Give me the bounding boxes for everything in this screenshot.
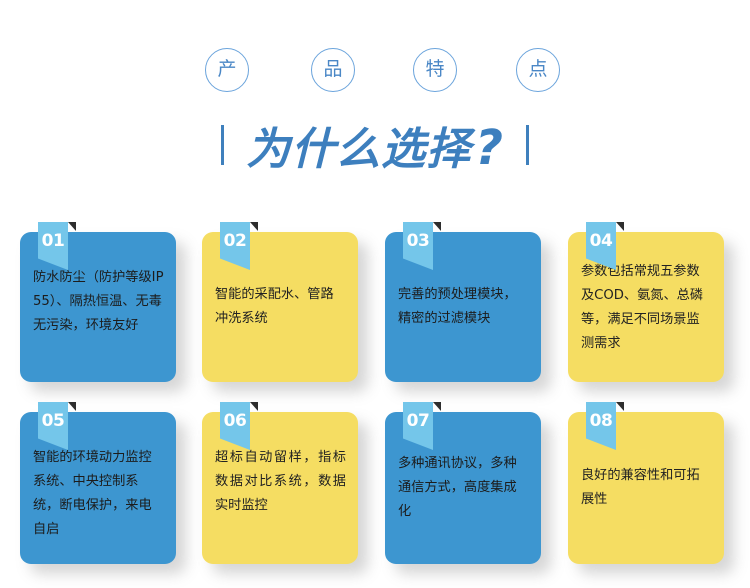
ribbon-fold-icon xyxy=(433,402,441,411)
card-number: 01 xyxy=(38,231,68,251)
feature-card[interactable]: 07 多种通讯协议，多种通信方式，高度集成化 xyxy=(385,412,541,564)
page-title: 为什么选择? xyxy=(246,113,504,177)
card-text: 防水防尘（防护等级IP55）、隔热恒温、无毒无污染，环境友好 xyxy=(33,266,164,338)
ribbon-icon: 05 xyxy=(38,402,68,450)
feature-card[interactable]: 04 参数包括常规五参数及COD、氨氮、总磷等，满足不同场景监测需求 xyxy=(568,232,724,382)
card-number: 03 xyxy=(403,231,433,251)
feature-card[interactable]: 06 超标自动留样，指标数据对比系统，数据实时监控 xyxy=(202,412,358,564)
card-text: 多种通讯协议，多种通信方式，高度集成化 xyxy=(398,452,529,524)
circled-char-dian: 点 xyxy=(516,48,560,92)
card-text: 智能的环境动力监控系统、中央控制系统，断电保护，来电自启 xyxy=(33,446,164,542)
card-number: 02 xyxy=(220,231,250,251)
divider-left-icon xyxy=(221,125,224,165)
question-mark: ? xyxy=(471,120,504,176)
card-number: 06 xyxy=(220,411,250,431)
feature-card[interactable]: 08 良好的兼容性和可拓展性 xyxy=(568,412,724,564)
page-title-text: 为什么选择 xyxy=(246,124,471,175)
feature-cards-row-1: 01 防水防尘（防护等级IP55）、隔热恒温、无毒无污染，环境友好 02 智能的… xyxy=(20,232,730,412)
feature-card[interactable]: 01 防水防尘（防护等级IP55）、隔热恒温、无毒无污染，环境友好 xyxy=(20,232,176,382)
ribbon-fold-icon xyxy=(68,402,76,411)
section-heading: 为什么选择? xyxy=(0,112,750,178)
ribbon-fold-icon xyxy=(616,402,624,411)
ribbon-fold-icon xyxy=(68,222,76,231)
card-text: 超标自动留样，指标数据对比系统，数据实时监控 xyxy=(215,446,346,518)
feature-cards-row-2: 05 智能的环境动力监控系统、中央控制系统，断电保护，来电自启 06 超标自动留… xyxy=(20,412,730,588)
ribbon-icon: 01 xyxy=(38,222,68,270)
divider-right-icon xyxy=(526,125,529,165)
feature-card[interactable]: 03 完善的预处理模块，精密的过滤模块 xyxy=(385,232,541,382)
circled-char-chan: 产 xyxy=(205,48,249,92)
circled-char-te: 特 xyxy=(413,48,457,92)
ribbon-fold-icon xyxy=(250,402,258,411)
card-number: 08 xyxy=(586,411,616,431)
ribbon-icon: 06 xyxy=(220,402,250,450)
ribbon-fold-icon xyxy=(616,222,624,231)
feature-card[interactable]: 02 智能的采配水、管路冲洗系统 xyxy=(202,232,358,382)
circled-char-pin: 品 xyxy=(311,48,355,92)
ribbon-icon: 07 xyxy=(403,402,433,450)
card-number: 07 xyxy=(403,411,433,431)
circled-label-row: 产 品 特 点 xyxy=(0,48,750,96)
feature-card[interactable]: 05 智能的环境动力监控系统、中央控制系统，断电保护，来电自启 xyxy=(20,412,176,564)
card-number: 04 xyxy=(586,231,616,251)
feature-cards-grid: 01 防水防尘（防护等级IP55）、隔热恒温、无毒无污染，环境友好 02 智能的… xyxy=(20,232,730,588)
product-features-section: 产 品 特 点 为什么选择? 01 防水防尘（防护等级IP55）、隔热恒温、无毒… xyxy=(0,0,750,588)
ribbon-fold-icon xyxy=(433,222,441,231)
card-text: 参数包括常规五参数及COD、氨氮、总磷等，满足不同场景监测需求 xyxy=(581,260,712,356)
ribbon-fold-icon xyxy=(250,222,258,231)
card-number: 05 xyxy=(38,411,68,431)
